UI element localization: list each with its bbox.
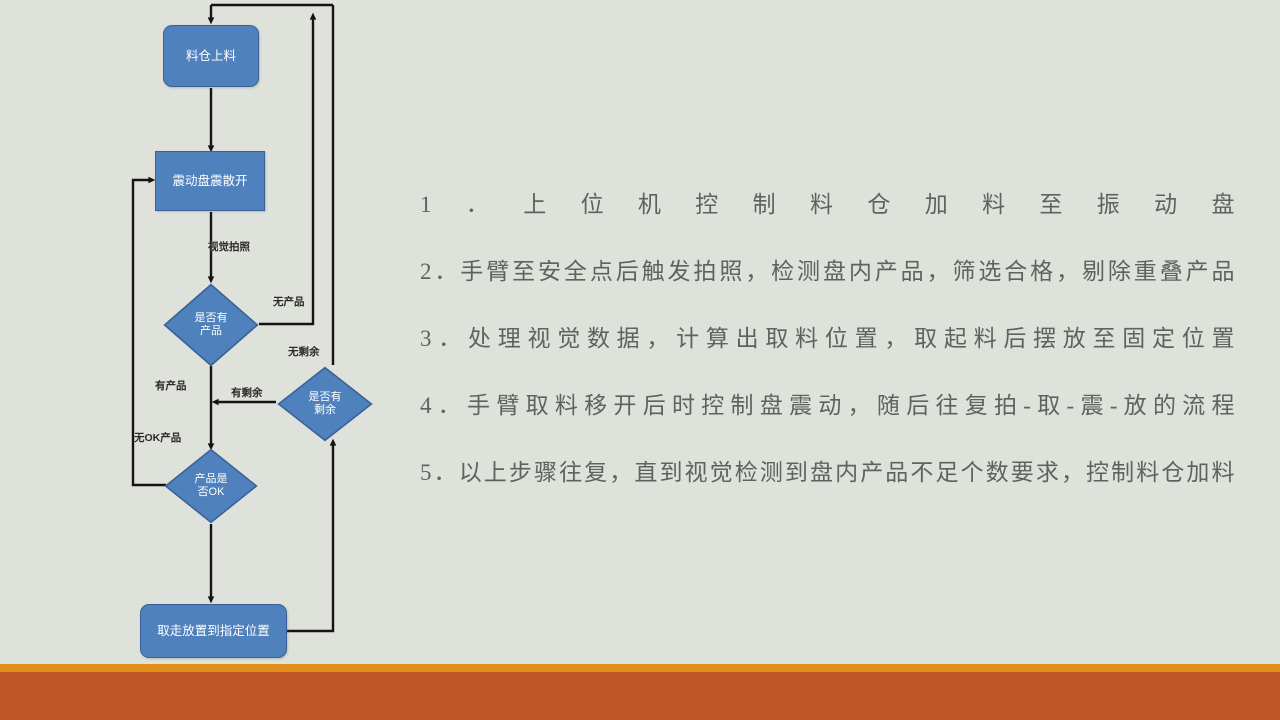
- edge-noprod: [259, 16, 313, 324]
- description-line-5: 5．以上步骤往复，直到视觉检测到盘内产品不足个数要求，控制料仓加料: [420, 456, 1235, 523]
- edge-label-photo: 视觉拍照: [208, 239, 250, 254]
- description-line-1: 1．上位机控制料仓加料至振动盘: [420, 188, 1235, 255]
- edge-place-to-hasleft: [287, 442, 333, 631]
- node-product-ok[interactable]: 产品是 否OK: [164, 448, 258, 524]
- node-feed-label: 料仓上料: [186, 49, 236, 63]
- description-line-2: 2．手臂至安全点后触发拍照，检测盘内产品，筛选合格，剔除重叠产品: [420, 255, 1235, 322]
- description-line-3: 3．处理视觉数据，计算出取料位置，取起料后摆放至固定位置: [420, 322, 1235, 389]
- flowchart: 料仓上料 震动盘震散开 是否有 产品 是否有: [0, 0, 420, 680]
- node-shake-label: 震动盘震散开: [172, 174, 247, 188]
- edge-label-no-ok-product: 无OK产品: [134, 430, 181, 445]
- edge-label-no-product: 无产品: [273, 294, 305, 309]
- edge-label-has-product: 有产品: [155, 378, 187, 393]
- node-feed[interactable]: 料仓上料: [163, 25, 259, 87]
- description-line-4: 4．手臂取料移开后时控制盘震动，随后往复拍-取-震-放的流程: [420, 389, 1235, 456]
- edge-label-has-remaining: 有剩余: [231, 385, 263, 400]
- node-has-product[interactable]: 是否有 产品: [163, 283, 259, 367]
- diamond-shape: [277, 366, 373, 442]
- node-shake[interactable]: 震动盘震散开: [155, 151, 265, 211]
- description-text: 1．上位机控制料仓加料至振动盘 2．手臂至安全点后触发拍照，检测盘内产品，筛选合…: [420, 188, 1235, 523]
- edge-label-no-remaining: 无剩余: [288, 344, 320, 359]
- slide-canvas: 料仓上料 震动盘震散开 是否有 产品 是否有: [0, 0, 1280, 720]
- node-has-remaining[interactable]: 是否有 剩余: [277, 366, 373, 442]
- node-place[interactable]: 取走放置到指定位置: [140, 604, 287, 658]
- diamond-shape: [163, 283, 259, 367]
- node-place-label: 取走放置到指定位置: [157, 624, 270, 638]
- diamond-shape: [164, 448, 258, 524]
